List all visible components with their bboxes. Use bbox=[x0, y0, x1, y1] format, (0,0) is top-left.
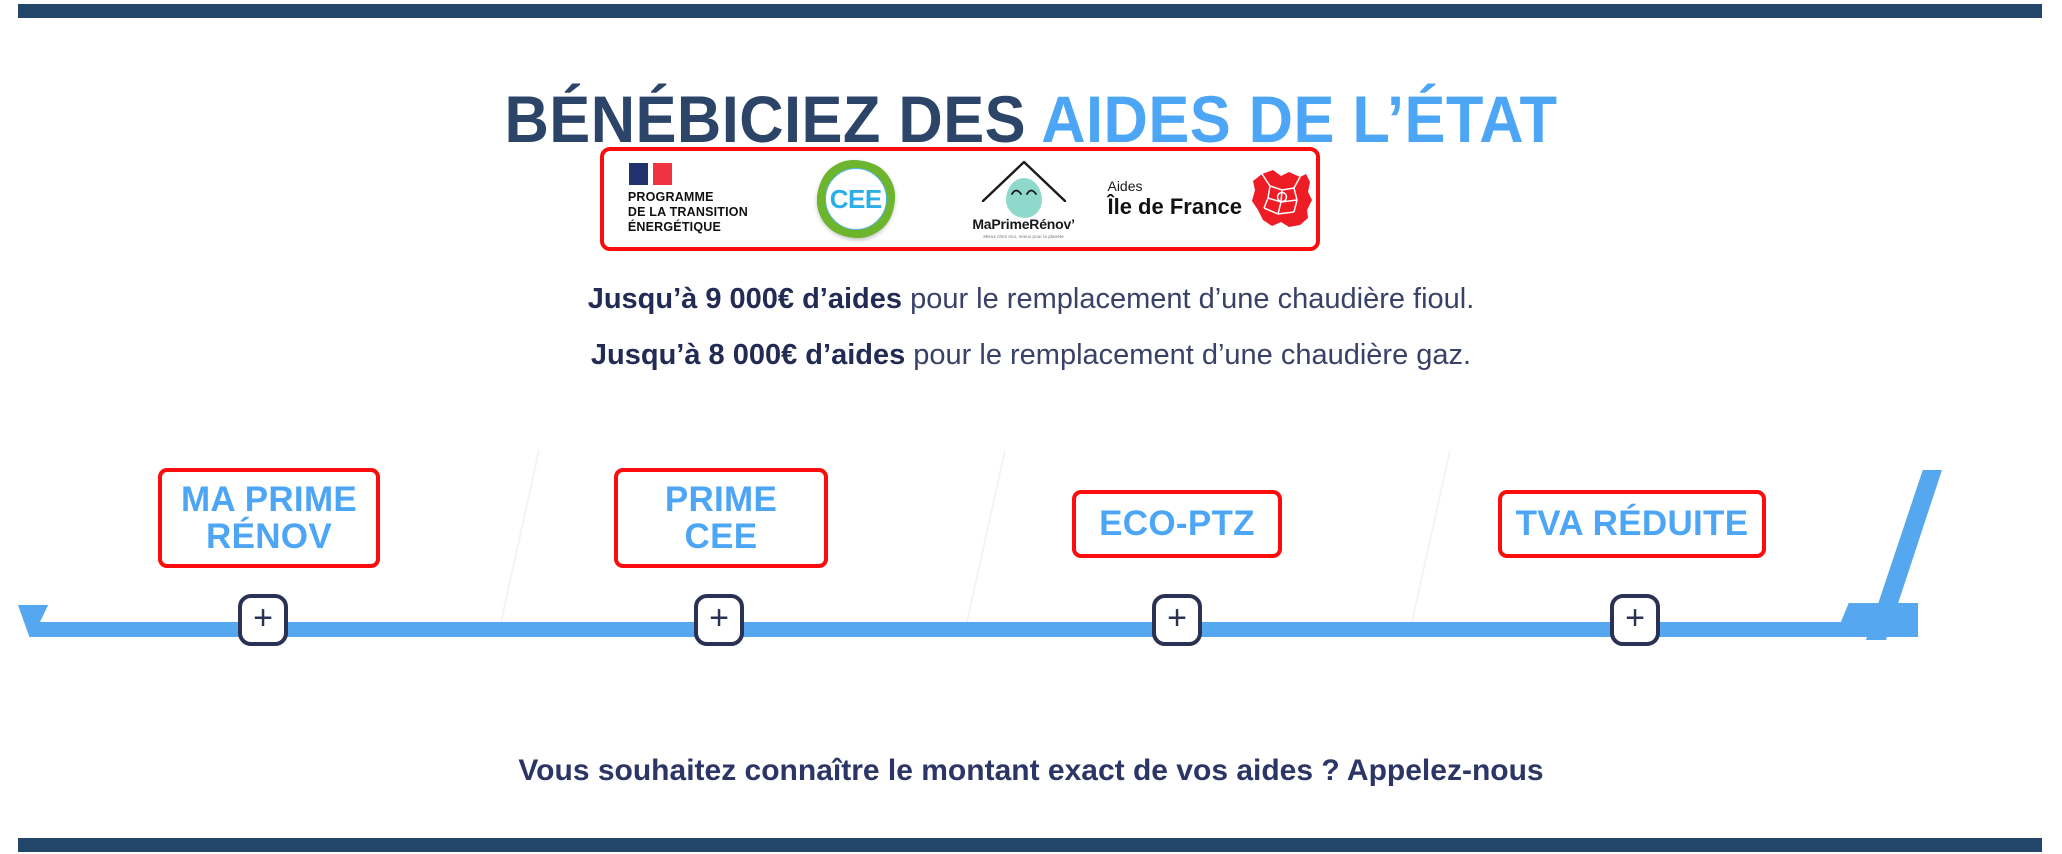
scheme-card-label: PRIME CEE bbox=[665, 481, 777, 556]
scheme-card-label: MA PRIME RÉNOV bbox=[181, 481, 357, 556]
expand-button-eco-ptz[interactable]: + bbox=[1152, 594, 1202, 646]
scheme-card-eco-ptz[interactable]: ECO-PTZ bbox=[1072, 490, 1282, 558]
logo-maprimerenov: MaPrimeRénov’ Mieux chez moi, mieux pour… bbox=[940, 151, 1108, 247]
scheme-card-label: TVA RÉDUITE bbox=[1516, 505, 1749, 542]
logo-line-2: DE LA TRANSITION bbox=[628, 205, 748, 220]
scheme-card-label: ECO-PTZ bbox=[1099, 505, 1255, 542]
expand-button-prime-cee[interactable]: + bbox=[694, 594, 744, 646]
cee-label: CEE bbox=[830, 184, 882, 215]
maprimerenov-tagline: Mieux chez moi, mieux pour la planète bbox=[983, 234, 1064, 239]
expand-button-ma-prime-renov[interactable]: + bbox=[238, 594, 288, 646]
scheme-card-ma-prime-renov[interactable]: MA PRIME RÉNOV bbox=[158, 468, 380, 568]
top-divider-bar bbox=[18, 4, 2042, 18]
partner-logo-strip: PROGRAMME DE LA TRANSITION ÉNERGÉTIQUE C… bbox=[600, 147, 1320, 251]
plus-icon: + bbox=[1167, 601, 1187, 635]
idf-label-small: Aides bbox=[1107, 179, 1142, 194]
plus-icon: + bbox=[253, 601, 273, 635]
aid-amount-gaz: Jusqu’à 8 000€ d’aides bbox=[591, 339, 905, 371]
plus-icon: + bbox=[709, 601, 729, 635]
expand-button-tva-reduite[interactable]: + bbox=[1610, 594, 1660, 646]
contact-prompt: Vous souhaitez connaître le montant exac… bbox=[0, 754, 2062, 788]
ile-de-france-map-icon bbox=[1248, 168, 1316, 230]
idf-label-big: Île de France bbox=[1107, 195, 1242, 219]
page-title-part-light: AIDES DE L’ÉTAT bbox=[1041, 82, 1557, 156]
page-title-part-dark: BÉNÉBICIEZ DES bbox=[505, 82, 1042, 156]
aid-statement-fioul: Jusqu’à 9 000€ d’aides pour le remplacem… bbox=[0, 283, 2062, 316]
bottom-divider-bar bbox=[18, 838, 2042, 852]
scheme-card-prime-cee[interactable]: PRIME CEE bbox=[614, 468, 828, 568]
logo-cee: CEE bbox=[772, 151, 940, 247]
aid-description-fioul: pour le remplacement d’une chaudière fio… bbox=[902, 283, 1474, 315]
maprimerenov-house-icon bbox=[981, 160, 1067, 212]
aid-schemes-ribbon: MA PRIME RÉNOV PRIME CEE ECO-PTZ TVA RÉD… bbox=[0, 448, 2062, 668]
aid-description-gaz: pour le remplacement d’une chaudière gaz… bbox=[905, 339, 1471, 371]
aid-amount-fioul: Jusqu’à 9 000€ d’aides bbox=[588, 283, 902, 315]
french-flag-icon bbox=[629, 163, 672, 185]
page-title: BÉNÉBICIEZ DES AIDES DE L’ÉTAT bbox=[72, 86, 1990, 152]
plus-icon: + bbox=[1625, 601, 1645, 635]
maprimerenov-title: MaPrimeRénov’ bbox=[972, 216, 1074, 232]
aid-statement-gaz: Jusqu’à 8 000€ d’aides pour le remplacem… bbox=[0, 339, 2062, 372]
scheme-card-tva-reduite[interactable]: TVA RÉDUITE bbox=[1498, 490, 1766, 558]
logo-line-1: PROGRAMME bbox=[628, 190, 748, 205]
logo-line-3: ÉNERGÉTIQUE bbox=[628, 220, 748, 235]
logo-programme-transition-energetique: PROGRAMME DE LA TRANSITION ÉNERGÉTIQUE bbox=[604, 151, 772, 247]
logo-aides-ile-de-france: Aides Île de France bbox=[1107, 151, 1316, 247]
cee-badge-icon: CEE bbox=[817, 160, 895, 238]
